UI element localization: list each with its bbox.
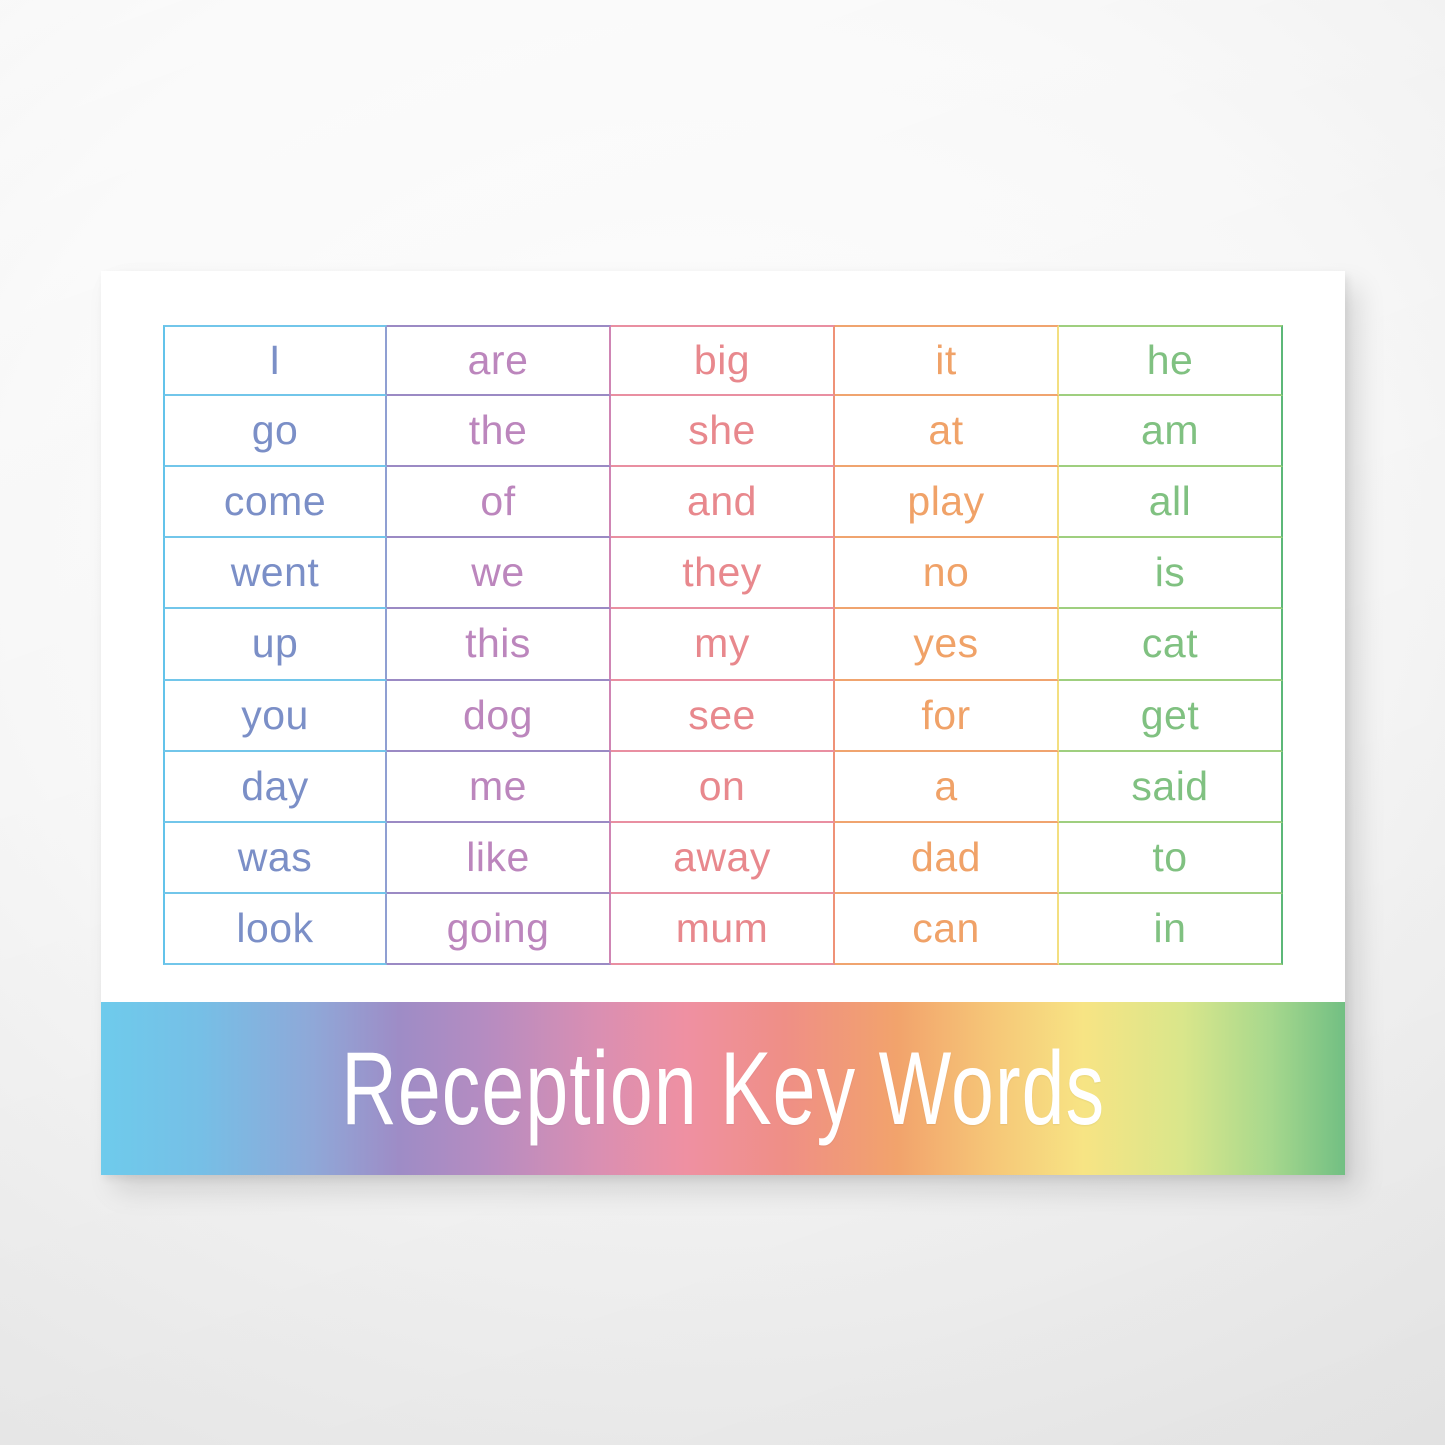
word-cell: up	[163, 609, 387, 680]
key-words-poster: Iarebigithegothesheatamcomeofandplayallw…	[101, 271, 1345, 1175]
word-label: come	[224, 481, 326, 522]
word-label: yes	[913, 623, 978, 664]
word-cell: is	[1059, 538, 1283, 609]
word-label: I	[269, 340, 281, 381]
word-label: she	[688, 410, 756, 451]
word-cell: like	[387, 823, 611, 894]
poster-title: Reception Key Words	[341, 1037, 1105, 1141]
word-cell: go	[163, 396, 387, 467]
word-cell: dog	[387, 681, 611, 752]
word-label: we	[471, 552, 524, 593]
word-label: was	[238, 837, 312, 878]
word-label: he	[1147, 340, 1194, 381]
word-cell: look	[163, 894, 387, 965]
poster-title-banner: Reception Key Words	[101, 1002, 1345, 1175]
word-label: it	[935, 340, 957, 381]
word-cell: and	[611, 467, 835, 538]
word-cell: he	[1059, 325, 1283, 396]
word-label: and	[687, 481, 757, 522]
word-cell: see	[611, 681, 835, 752]
word-label: dad	[911, 837, 981, 878]
word-cell: she	[611, 396, 835, 467]
word-cell: yes	[835, 609, 1059, 680]
word-cell: mum	[611, 894, 835, 965]
word-label: on	[699, 766, 746, 807]
word-cell: went	[163, 538, 387, 609]
word-label: all	[1149, 481, 1192, 522]
word-cell: play	[835, 467, 1059, 538]
word-cell: no	[835, 538, 1059, 609]
word-cell: going	[387, 894, 611, 965]
word-cell: all	[1059, 467, 1283, 538]
word-cell: am	[1059, 396, 1283, 467]
word-label: can	[912, 908, 980, 949]
word-cell: this	[387, 609, 611, 680]
word-cell: to	[1059, 823, 1283, 894]
word-label: going	[447, 908, 550, 949]
word-label: look	[236, 908, 313, 949]
word-cell: you	[163, 681, 387, 752]
word-label: this	[465, 623, 531, 664]
word-cell: get	[1059, 681, 1283, 752]
word-cell: of	[387, 467, 611, 538]
word-label: you	[241, 695, 309, 736]
word-cell: come	[163, 467, 387, 538]
word-cell: my	[611, 609, 835, 680]
word-label: mum	[676, 908, 769, 949]
word-cell: said	[1059, 752, 1283, 823]
word-label: go	[252, 410, 299, 451]
word-label: a	[934, 766, 957, 807]
word-label: play	[907, 481, 984, 522]
word-cell: on	[611, 752, 835, 823]
word-label: cat	[1142, 623, 1198, 664]
word-label: like	[466, 837, 530, 878]
word-label: they	[682, 552, 762, 593]
word-label: went	[231, 552, 320, 593]
word-cell: I	[163, 325, 387, 396]
word-label: the	[469, 410, 528, 451]
word-label: no	[923, 552, 970, 593]
word-label: see	[688, 695, 756, 736]
word-cell: away	[611, 823, 835, 894]
word-label: day	[241, 766, 309, 807]
word-label: are	[468, 340, 529, 381]
key-words-table: Iarebigithegothesheatamcomeofandplayallw…	[163, 325, 1283, 965]
word-cell: me	[387, 752, 611, 823]
word-label: away	[673, 837, 771, 878]
word-cell: at	[835, 396, 1059, 467]
word-label: of	[480, 481, 515, 522]
word-cell: they	[611, 538, 835, 609]
word-label: to	[1152, 837, 1187, 878]
word-cell: day	[163, 752, 387, 823]
word-cell: big	[611, 325, 835, 396]
word-label: for	[921, 695, 970, 736]
word-label: get	[1141, 695, 1200, 736]
word-label: my	[694, 623, 750, 664]
word-cell: a	[835, 752, 1059, 823]
word-cell: in	[1059, 894, 1283, 965]
word-cell: cat	[1059, 609, 1283, 680]
word-cell: for	[835, 681, 1059, 752]
word-cell: can	[835, 894, 1059, 965]
word-label: said	[1131, 766, 1208, 807]
word-label: is	[1155, 552, 1186, 593]
word-cell: it	[835, 325, 1059, 396]
word-cell: we	[387, 538, 611, 609]
word-label: in	[1154, 908, 1187, 949]
word-cell: was	[163, 823, 387, 894]
word-cell: dad	[835, 823, 1059, 894]
word-label: am	[1141, 410, 1199, 451]
word-label: up	[252, 623, 299, 664]
word-label: me	[469, 766, 527, 807]
word-label: big	[694, 340, 750, 381]
word-cell: the	[387, 396, 611, 467]
word-label: at	[928, 410, 963, 451]
word-label: dog	[463, 695, 533, 736]
word-cell: are	[387, 325, 611, 396]
